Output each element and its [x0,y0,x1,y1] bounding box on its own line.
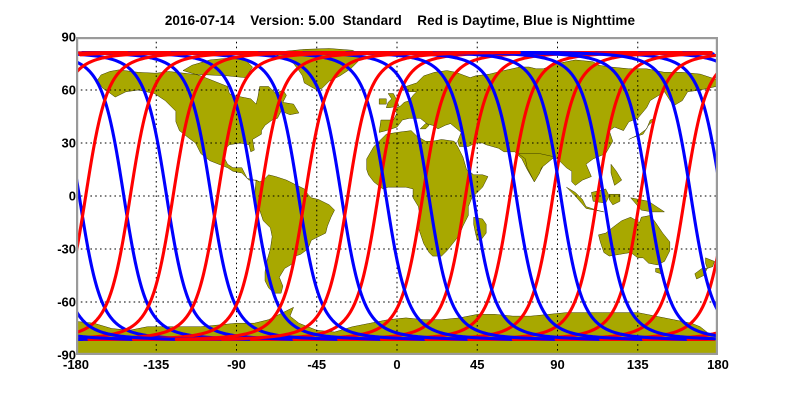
x-tick-90: 90 [523,357,593,372]
land-philippines [611,164,622,185]
y-tick-60: 60 [16,83,76,98]
y-tick--60: -60 [16,295,76,310]
land-new-zealand-n [706,258,715,269]
figure-title: 2016-07-14 Version: 5.00 Standard Red is… [0,13,800,28]
map-and-tracks-svg [76,37,718,355]
x-tick-180: 180 [683,357,753,372]
x-tick--90: -90 [202,357,272,372]
x-tick-45: 45 [442,357,512,372]
plot-area [76,37,718,355]
land-ireland [379,99,386,104]
ground-track-figure: 2016-07-14 Version: 5.00 Standard Red is… [0,0,800,400]
x-tick-0: 0 [362,357,432,372]
x-tick--45: -45 [282,357,352,372]
y-tick-30: 30 [16,136,76,151]
x-tick-135: 135 [603,357,673,372]
land-india-extra [518,154,555,182]
x-tick--135: -135 [121,357,191,372]
land-south-america [253,175,335,293]
y-tick-90: 90 [16,30,76,45]
y-tick-0: 0 [16,189,76,204]
y-tick--30: -30 [16,242,76,257]
x-tick--180: -180 [41,357,111,372]
